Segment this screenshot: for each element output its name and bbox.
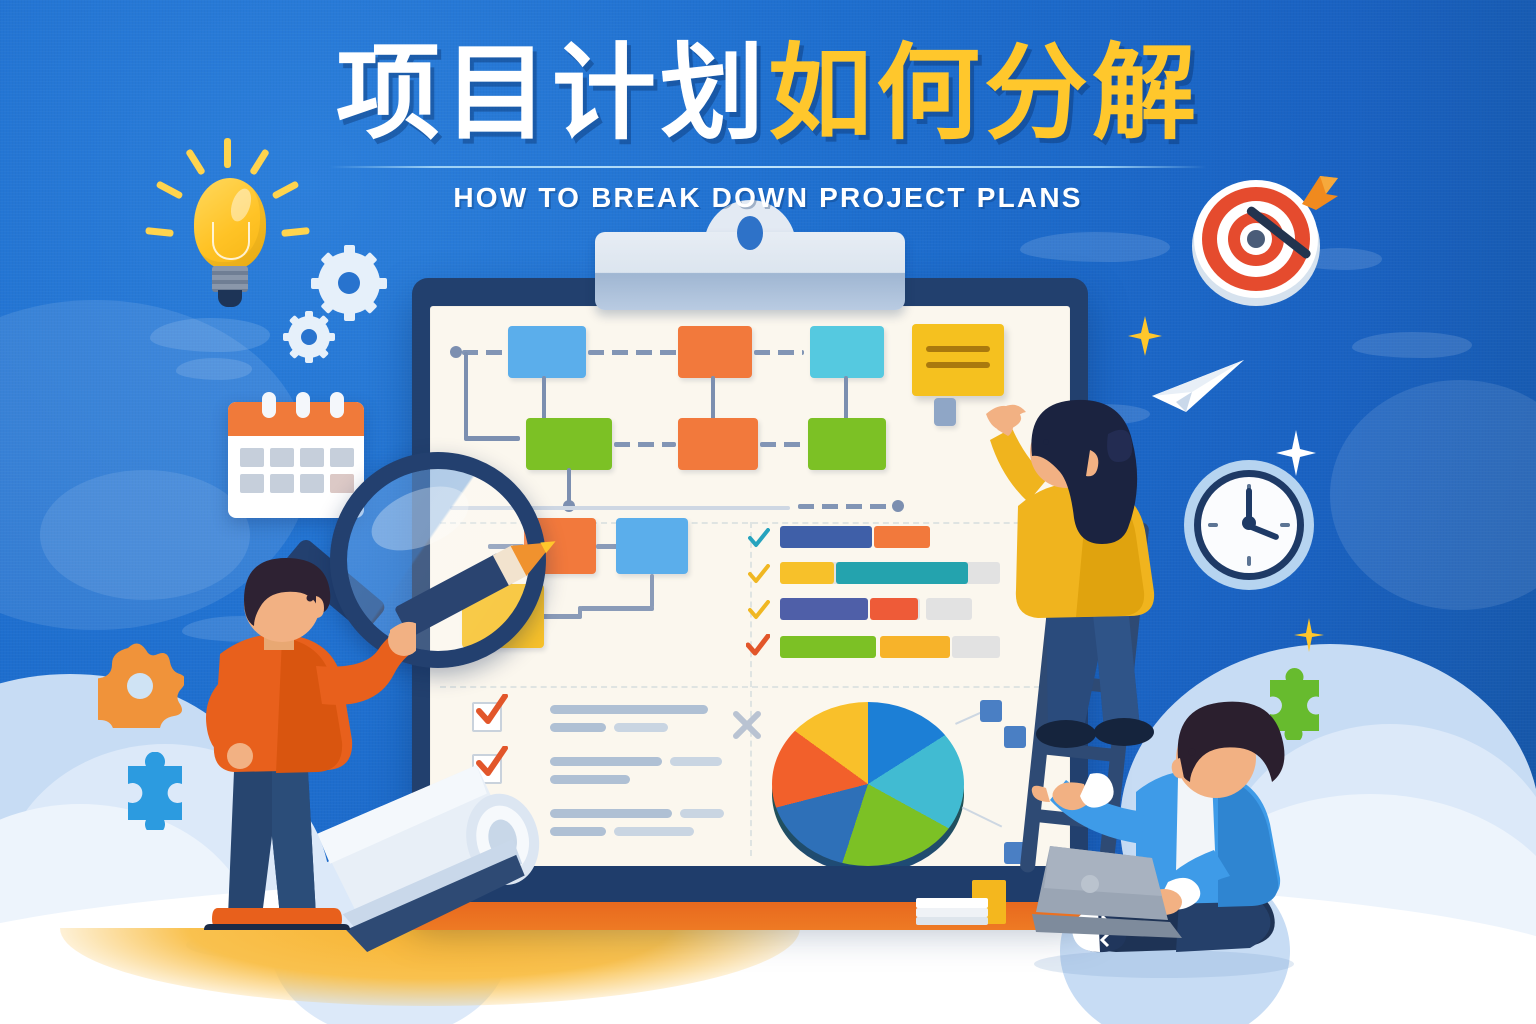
clipboard-clip-hole xyxy=(737,216,763,250)
task-bar-segment xyxy=(780,598,868,620)
task-bar-segment xyxy=(870,598,918,620)
checklist-text-line xyxy=(550,757,662,766)
checklist-text-line xyxy=(614,827,694,836)
task-bar-segment xyxy=(780,636,876,658)
flow-connector xyxy=(760,442,804,447)
sticky-note[interactable] xyxy=(912,324,1004,396)
laptop[interactable] xyxy=(1032,840,1182,946)
poster-canvas: 项目计划如何分解 HOW TO BREAK DOWN PROJECT PLANS xyxy=(0,0,1536,1024)
flow-connector xyxy=(588,350,684,355)
title-line: 项目计划如何分解 xyxy=(0,38,1536,150)
checklist-text-line xyxy=(670,757,722,766)
sparkle-icon-yellow-bottom xyxy=(1294,618,1324,657)
flow-connector-vertical xyxy=(567,468,571,504)
checklist-text-line xyxy=(550,705,708,714)
gear-icon-large xyxy=(318,252,380,314)
subflow-connector-vertical xyxy=(650,574,654,608)
task-check-2[interactable] xyxy=(748,564,770,584)
puzzle-piece-orange xyxy=(98,642,184,733)
flow-connector-vertical xyxy=(844,376,848,420)
sparkle-icon-yellow-top xyxy=(1128,316,1162,361)
flow-connector xyxy=(754,350,804,355)
task-bar-segment xyxy=(874,526,930,548)
flow-node-1[interactable] xyxy=(508,326,586,378)
task-bar-segment xyxy=(780,562,834,584)
flow-connector-vertical xyxy=(542,376,546,420)
poster-title-block: 项目计划如何分解 HOW TO BREAK DOWN PROJECT PLANS xyxy=(0,38,1536,214)
clock-icon xyxy=(1184,460,1314,590)
title-main-white: 项目计划 xyxy=(336,36,768,152)
flow-connector-vertical xyxy=(711,376,715,420)
checklist-text-line xyxy=(550,809,672,818)
flow-connector xyxy=(798,504,890,509)
book-stack xyxy=(916,890,1012,924)
checklist-text-line xyxy=(550,723,606,732)
pie-chart[interactable] xyxy=(768,696,968,874)
checklist-text-line xyxy=(614,723,668,732)
task-bar-segment xyxy=(880,636,950,658)
flow-connector xyxy=(464,436,520,441)
flow-connector-vertical xyxy=(464,352,468,440)
checklist-text-line xyxy=(550,775,630,784)
pie-x-marker xyxy=(732,710,762,745)
task-bar-segment xyxy=(836,562,968,584)
title-divider-rule xyxy=(329,166,1207,168)
flow-node-6[interactable] xyxy=(808,418,886,470)
checklist-check-1 xyxy=(474,694,508,731)
subflow-connector xyxy=(580,606,654,611)
task-check-3[interactable] xyxy=(748,600,770,620)
pie-chart-slices xyxy=(772,702,964,866)
flow-node-5[interactable] xyxy=(678,418,758,470)
task-check-1[interactable] xyxy=(748,528,770,548)
subflow-node-2[interactable] xyxy=(616,518,688,574)
person-with-magnifier xyxy=(176,556,416,966)
flow-node-2[interactable] xyxy=(678,326,752,378)
pie-leader-line xyxy=(962,806,1002,827)
title-subtitle: HOW TO BREAK DOWN PROJECT PLANS xyxy=(0,182,1536,214)
task-bar-segment xyxy=(780,526,872,548)
flow-connector xyxy=(614,442,676,447)
subflow-connector xyxy=(596,544,618,549)
flow-connector xyxy=(462,350,512,355)
flow-start-dot xyxy=(450,346,462,358)
title-main-yellow: 如何分解 xyxy=(768,36,1200,152)
task-check-4[interactable] xyxy=(746,634,768,654)
flow-end-dot xyxy=(892,500,904,512)
checklist-text-line xyxy=(680,809,724,818)
sticky-note-tab xyxy=(934,398,956,426)
flow-node-3[interactable] xyxy=(810,326,884,378)
gear-icon-small xyxy=(288,316,330,358)
